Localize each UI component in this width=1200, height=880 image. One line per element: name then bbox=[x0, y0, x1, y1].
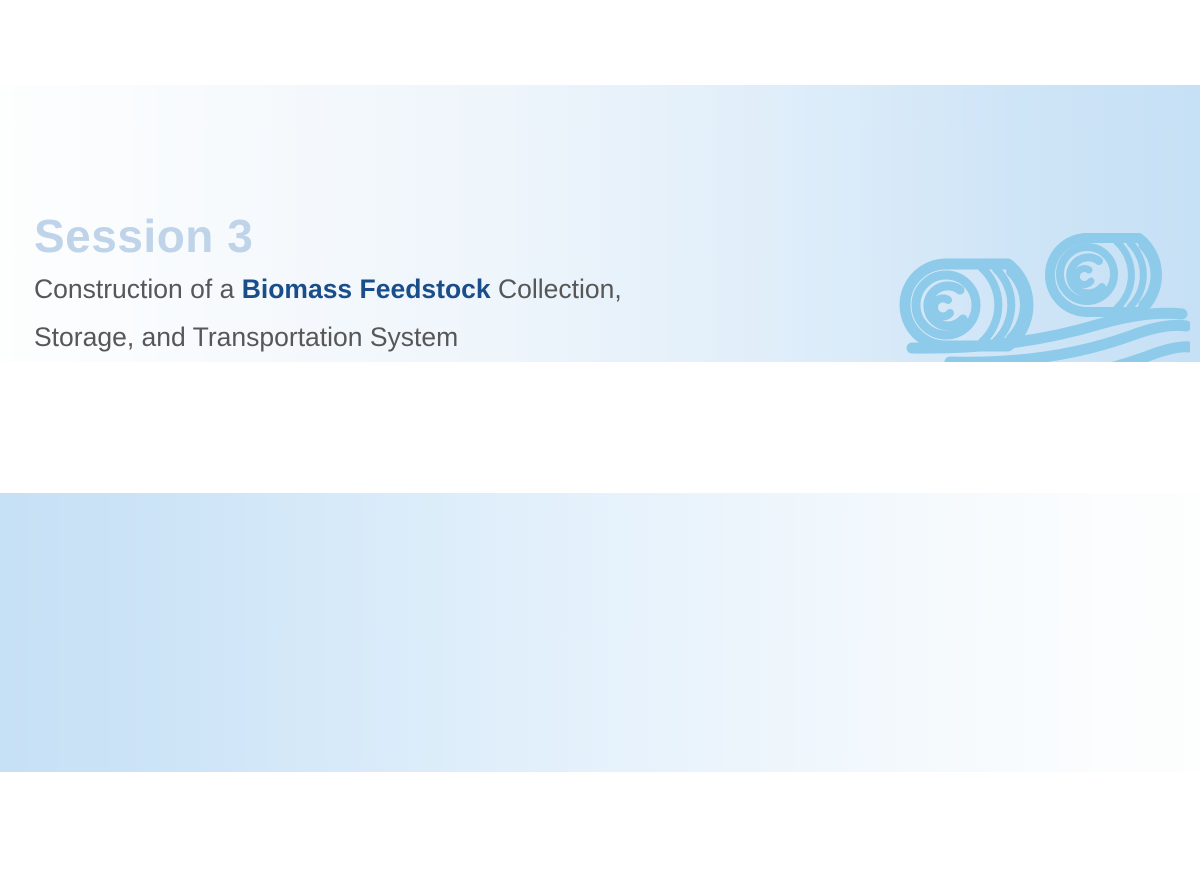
headline-line2-text: Storage, and Transportation System bbox=[34, 322, 458, 352]
session-3-text-block: Session 3 Construction of a Biomass Feed… bbox=[34, 85, 824, 362]
session-4-text-block: Session 4 Biofuels Driving Green Decarbo… bbox=[379, 493, 1169, 772]
session-3-watermark: Session 3 bbox=[34, 213, 253, 260]
session-banner-4: Session 4 Biofuels Driving Green Decarbo… bbox=[0, 493, 1200, 772]
headline-lead-text: Construction of a bbox=[34, 274, 242, 304]
hay-bales-icon bbox=[890, 216, 1190, 362]
headline-tail-text: Collection, bbox=[491, 274, 622, 304]
headline-accent-biomass-feedstock: Biomass Feedstock bbox=[242, 274, 491, 304]
session-3-headline: Construction of a Biomass Feedstock Coll… bbox=[34, 265, 622, 361]
session-banner-3: Session 3 Construction of a Biomass Feed… bbox=[0, 85, 1200, 362]
